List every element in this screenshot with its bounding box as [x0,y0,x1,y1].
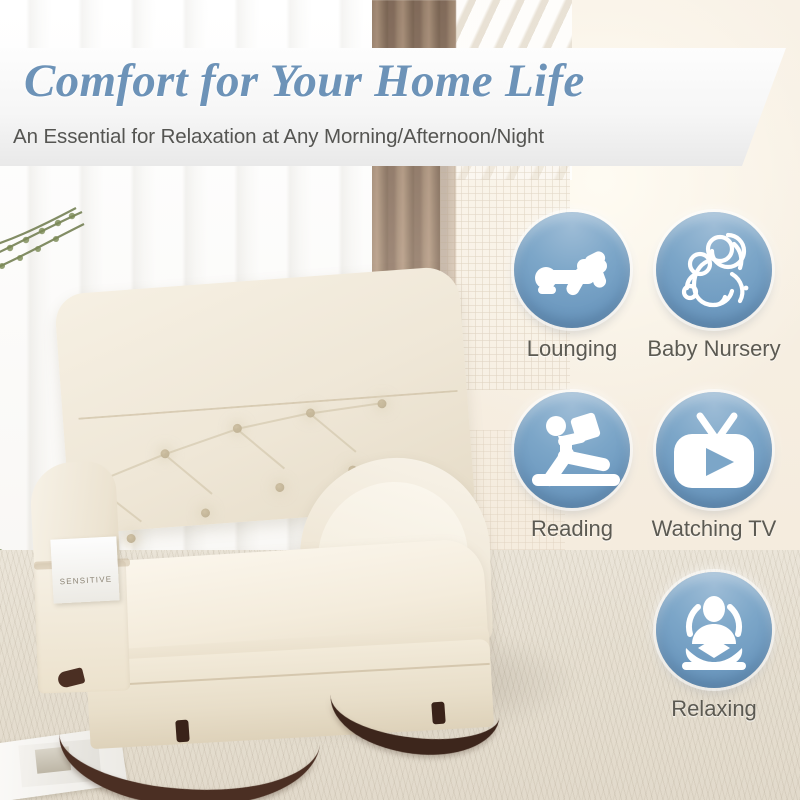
feature-label-lounging: Lounging [496,336,648,362]
feature-label-baby-nursery: Baby Nursery [638,336,790,362]
watching-tv-badge[interactable] [656,392,772,508]
feature-label-watching-tv: Watching TV [638,516,790,542]
feature-item-watching-tv[interactable]: Watching TV [638,392,790,542]
feature-label-reading: Reading [496,516,648,542]
baby-nursery-badge[interactable] [656,212,772,328]
lounging-badge[interactable] [514,212,630,328]
relaxing-badge[interactable] [656,572,772,688]
mother-and-baby-icon [656,212,772,328]
reading-badge[interactable] [514,392,630,508]
feature-item-baby-nursery[interactable]: Baby Nursery [638,212,790,362]
feature-item-relaxing[interactable]: Relaxing [638,572,790,722]
feature-item-reading[interactable]: Reading [496,392,648,542]
lounging-person-icon [514,212,630,328]
feature-item-lounging[interactable]: Lounging [496,212,648,362]
television-play-icon [656,392,772,508]
feature-badge-grid: Lounging [0,0,800,800]
meditating-person-icon [656,572,772,688]
feature-label-relaxing: Relaxing [638,696,790,722]
reading-person-icon [514,392,630,508]
product-marketing-image: SENSITIVE Comfort for Your Home Life An … [0,0,800,800]
